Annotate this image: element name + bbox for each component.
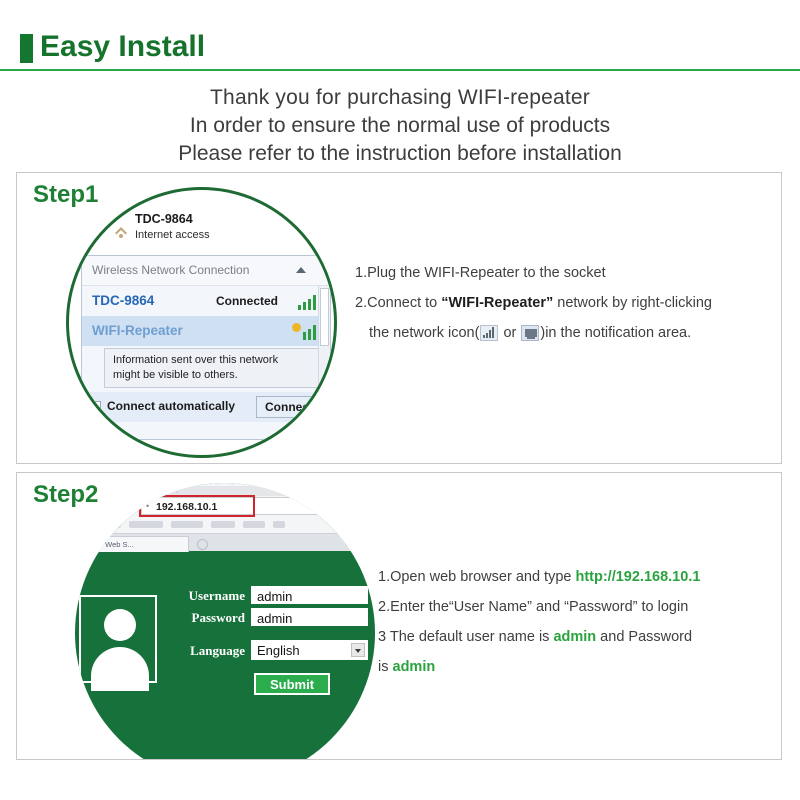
connect-automatically-checkbox[interactable] bbox=[90, 401, 101, 412]
step1-instruction-line-3: the network icon( or )in the notificatio… bbox=[355, 318, 775, 348]
intro-line-3: Please refer to the instruction before i… bbox=[0, 140, 800, 168]
page-header: Easy Install bbox=[0, 0, 800, 72]
new-tab-icon[interactable] bbox=[197, 539, 208, 550]
submit-button[interactable]: Submit bbox=[254, 673, 330, 695]
connect-button[interactable]: Connect bbox=[256, 396, 322, 418]
step2-instruction-line-4: is admin bbox=[378, 652, 778, 682]
step1-instruction-line-1: 1.Plug the WIFI-Repeater to the socket bbox=[355, 258, 775, 288]
language-label: Language bbox=[167, 643, 245, 659]
wifi-tray-icon bbox=[113, 224, 129, 240]
chevron-up-icon[interactable] bbox=[296, 267, 306, 273]
step1-illustration-circle: TDC-9864 Internet access Wireless Networ… bbox=[66, 187, 337, 458]
tooltip-line-1: Information sent over this network bbox=[113, 354, 278, 366]
password-label: Password bbox=[167, 610, 245, 626]
username-value: admin bbox=[257, 589, 292, 604]
step1-line3-prefix: the network icon( bbox=[369, 325, 479, 341]
intro-line-1: Thank you for purchasing WIFI-repeater bbox=[0, 84, 800, 112]
step2-line3-prefix: 3 The default user name is bbox=[378, 629, 553, 645]
network-connected-status: Connected bbox=[216, 294, 278, 308]
page-title: Easy Install bbox=[40, 29, 205, 65]
step1-line2-prefix: 2.Connect to bbox=[355, 295, 441, 311]
chevron-down-icon[interactable] bbox=[351, 643, 365, 657]
header-divider bbox=[0, 69, 800, 71]
avatar-body-icon bbox=[91, 647, 149, 691]
step1-line3-or: or bbox=[499, 325, 520, 341]
browser-tab-label: eater Web S... bbox=[86, 540, 134, 549]
browser-titlebar-text: 网页示例 bbox=[151, 485, 179, 494]
step2-line3-admin: admin bbox=[553, 629, 596, 645]
browser-tabstrip: eater Web S... bbox=[75, 533, 375, 551]
username-label: Username bbox=[167, 588, 245, 604]
step2-line4-admin: admin bbox=[393, 659, 436, 675]
url-highlight-box bbox=[139, 495, 255, 517]
flyout-header[interactable]: Wireless Network Connection bbox=[82, 256, 330, 286]
network-list-item-connected[interactable]: TDC-9864 Connected bbox=[82, 286, 330, 316]
avatar bbox=[79, 595, 157, 683]
flyout-scrollbar[interactable] bbox=[318, 286, 330, 392]
browser-favicon-icon bbox=[121, 501, 131, 511]
password-input[interactable]: admin bbox=[251, 608, 368, 626]
network-list-item-repeater[interactable]: WIFI-Repeater bbox=[82, 316, 330, 346]
wireless-network-flyout: Wireless Network Connection TDC-9864 Con… bbox=[81, 255, 331, 440]
step2-instruction-line-2: 2.Enter the“User Name” and “Password” to… bbox=[378, 592, 778, 622]
scrollbar-thumb[interactable] bbox=[320, 288, 329, 346]
signal-strength-icon bbox=[298, 294, 320, 310]
step2-illustration-circle: 网页示例 • 192.168.10.1 eater Web S... bbox=[75, 483, 375, 760]
network-ssid-label: TDC-9864 bbox=[92, 293, 154, 308]
step2-line3-suffix: and Password bbox=[596, 629, 692, 645]
language-select[interactable]: English bbox=[251, 640, 368, 660]
step2-instructions: 1.Open web browser and type http://192.1… bbox=[378, 562, 778, 682]
step2-instruction-line-1: 1.Open web browser and type http://192.1… bbox=[378, 562, 778, 592]
browser-tab[interactable]: eater Web S... bbox=[81, 536, 189, 552]
unsecured-network-tooltip: Information sent over this network might… bbox=[104, 348, 320, 388]
step1-label: Step1 bbox=[33, 181, 98, 209]
step2-line1-prefix: 1.Open web browser and type bbox=[378, 569, 575, 585]
network-ssid-label: WIFI-Repeater bbox=[92, 323, 183, 338]
tooltip-line-2: might be visible to others. bbox=[113, 369, 238, 381]
wifi-bars-icon bbox=[480, 325, 498, 341]
step2-line1-url: http://192.168.10.1 bbox=[575, 569, 700, 585]
flyout-header-label: Wireless Network Connection bbox=[92, 263, 249, 277]
unsecured-warning-icon bbox=[292, 323, 301, 332]
tray-connected-network: TDC-9864 Internet access bbox=[109, 210, 334, 255]
avatar-head-icon bbox=[104, 609, 136, 641]
step1-instruction-line-2: 2.Connect to “WIFI-Repeater” network by … bbox=[355, 288, 775, 318]
username-input[interactable]: admin bbox=[251, 586, 368, 604]
language-value: English bbox=[257, 643, 300, 658]
network-monitor-icon bbox=[521, 325, 539, 341]
browser-chrome: 网页示例 • 192.168.10.1 eater Web S... bbox=[75, 483, 375, 551]
submit-button-label: Submit bbox=[256, 677, 328, 692]
step1-line3-suffix: )in the notification area. bbox=[540, 325, 691, 341]
intro-text-block: Thank you for purchasing WIFI-repeater I… bbox=[0, 84, 800, 168]
tray-network-ssid: TDC-9864 bbox=[135, 212, 193, 226]
intro-line-2: In order to ensure the normal use of pro… bbox=[0, 112, 800, 140]
step1-line2-suffix: network by right-clicking bbox=[553, 295, 712, 311]
password-value: admin bbox=[257, 611, 292, 626]
flyout-footer: Connect automatically Connect bbox=[82, 392, 330, 422]
header-accent-bar bbox=[20, 34, 33, 63]
step1-instructions: 1.Plug the WIFI-Repeater to the socket 2… bbox=[355, 258, 775, 348]
step2-line4-prefix: is bbox=[378, 659, 393, 675]
step2-instruction-line-3: 3 The default user name is admin and Pas… bbox=[378, 622, 778, 652]
connect-automatically-label: Connect automatically bbox=[107, 399, 235, 413]
signal-strength-unsecured-icon bbox=[298, 324, 320, 340]
step1-line2-quoted: “WIFI-Repeater” bbox=[441, 295, 553, 311]
tray-network-status: Internet access bbox=[135, 229, 210, 241]
browser-toolbar bbox=[95, 520, 365, 530]
